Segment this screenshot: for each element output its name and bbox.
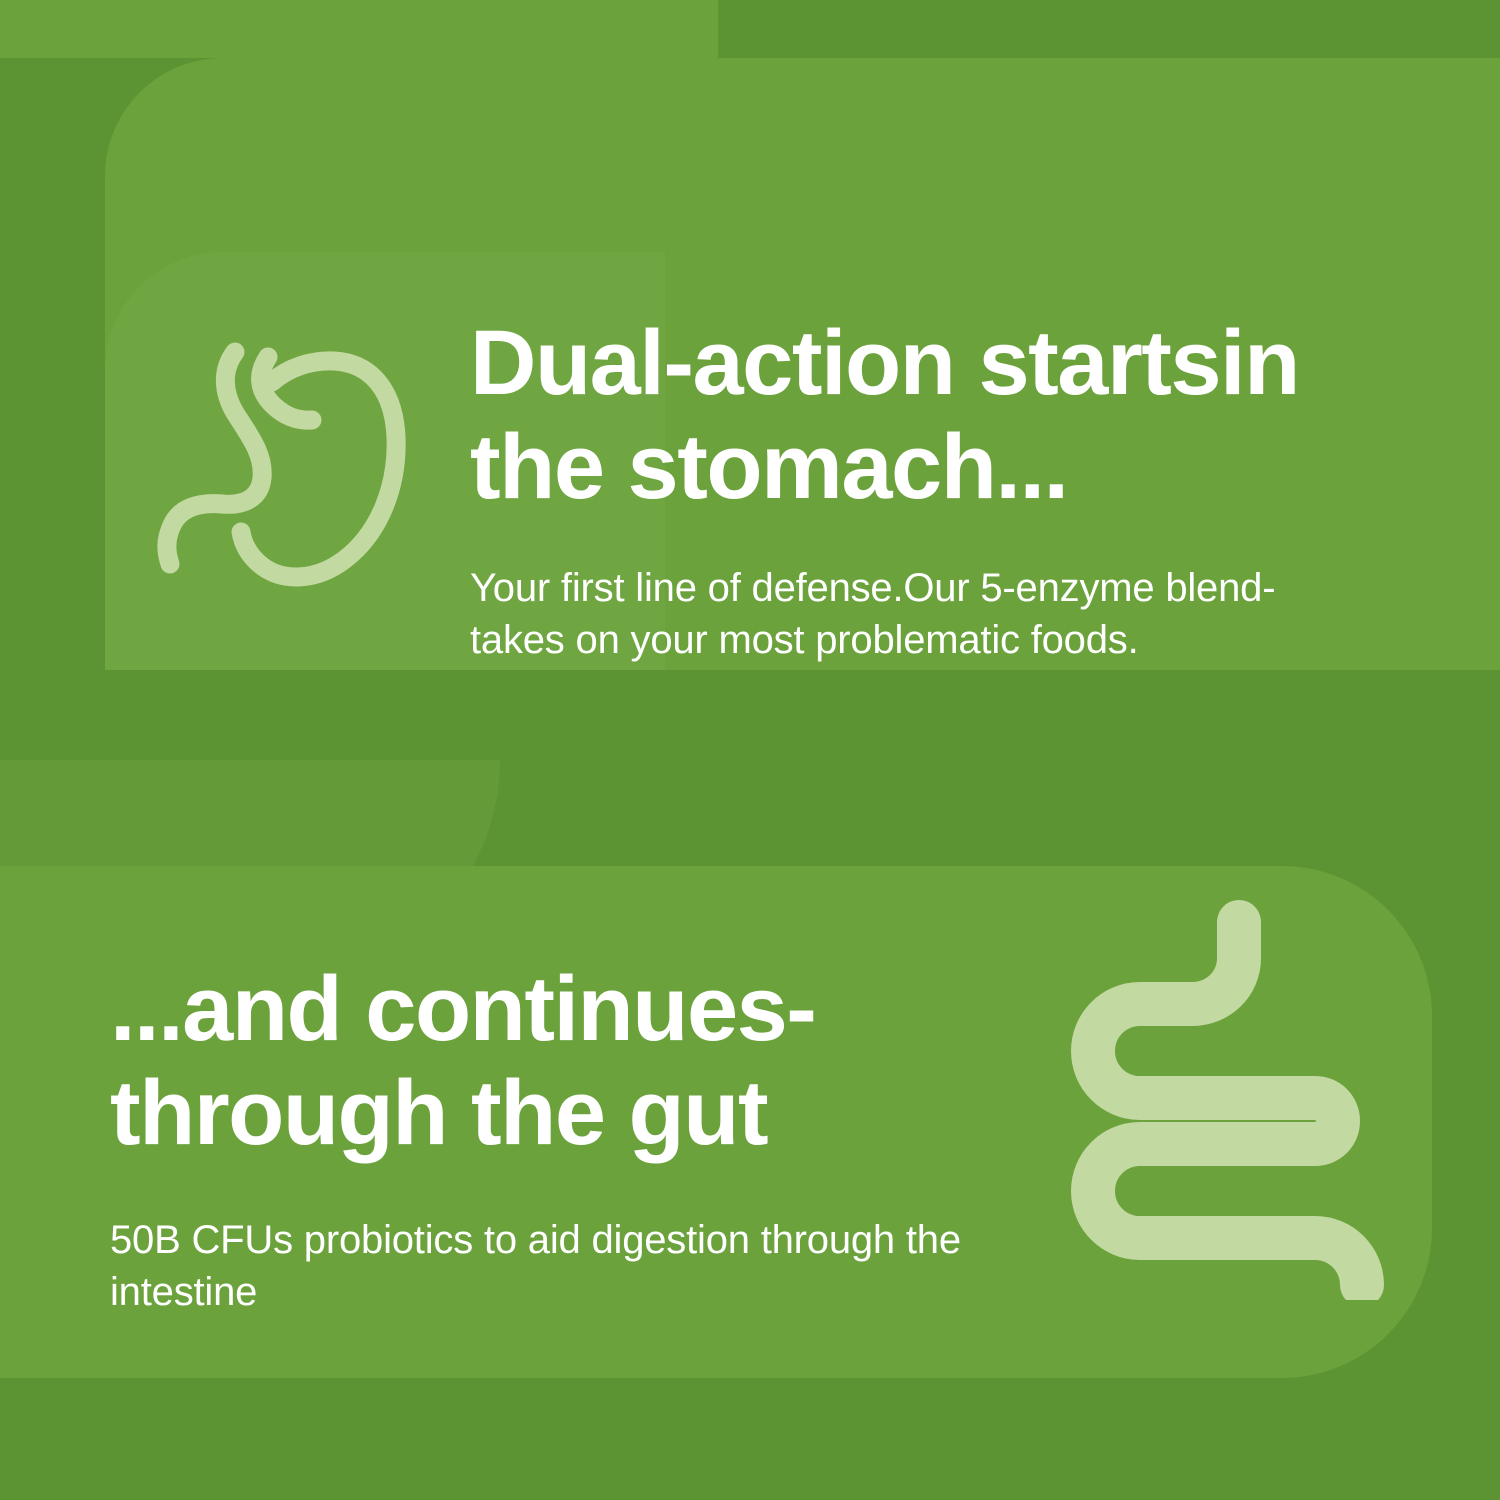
gut-text-block: ...and continues- through the gut 50B CF… xyxy=(110,958,1050,1318)
bottom-accent-wedge xyxy=(0,760,500,980)
top-accent-strip xyxy=(0,0,718,58)
stomach-headline: Dual-action startsin the stomach... xyxy=(470,312,1410,520)
promo-graphic: Dual-action startsin the stomach... Your… xyxy=(0,0,1500,1500)
intestine-icon xyxy=(1062,900,1407,1300)
gut-headline: ...and continues- through the gut xyxy=(110,958,1050,1166)
stomach-text-block: Dual-action startsin the stomach... Your… xyxy=(470,312,1410,666)
stomach-subcopy: Your first line of defense.Our 5-enzyme … xyxy=(470,562,1410,666)
gut-subcopy: 50B CFUs probiotics to aid digestion thr… xyxy=(110,1214,1050,1318)
stomach-icon xyxy=(140,320,420,600)
